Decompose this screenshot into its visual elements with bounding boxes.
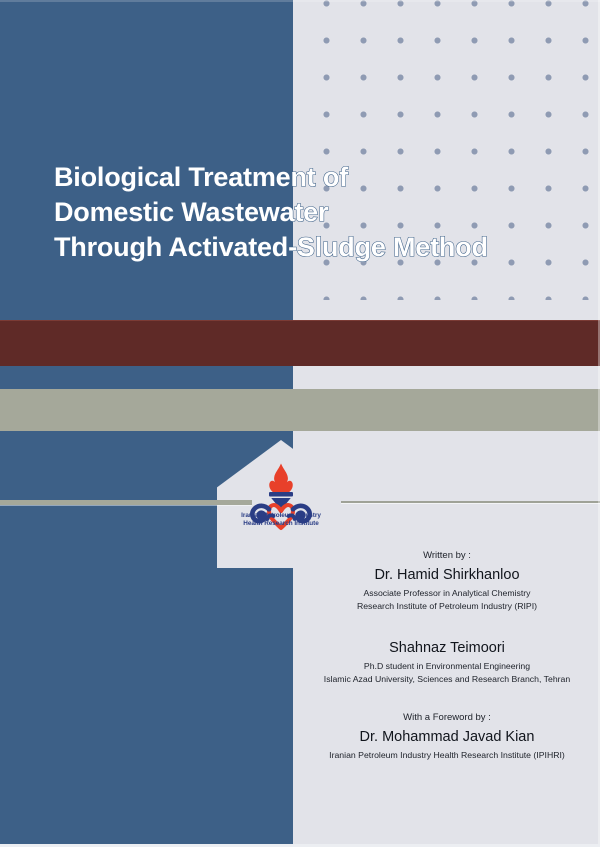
horizontal-rule-right [341,501,600,503]
horizontal-rule-left [0,500,252,505]
foreword-author-affiliation: Iranian Petroleum Industry Health Resear… [300,749,594,762]
author-2-name: Shahnaz Teimoori [300,637,594,660]
author-2-affiliation-line-1: Ph.D student in Environmental Engineerin… [300,660,594,673]
author-1-affiliation-line-1: Associate Professor in Analytical Chemis… [300,587,594,600]
author-1-affiliation-line-2: Research Institute of Petroleum Industry… [300,600,594,613]
logo-caption-line-1: Iranian Petroleum Industry [220,512,342,520]
written-by-label: Written by : [300,548,594,564]
author-2-affiliation-line-2: Islamic Azad University, Sciences and Re… [300,673,594,686]
author-1-name: Dr. Hamid Shirkhanloo [300,564,594,587]
title-line-3: Through Activated-Sludge Method [54,230,554,265]
written-by-group: Written by : Dr. Hamid Shirkhanloo Assoc… [300,548,594,613]
foreword-label: With a Foreword by : [300,710,594,726]
title-line-2: Domestic Wastewater [54,195,554,230]
author-2-group: Shahnaz Teimoori Ph.D student in Environ… [300,637,594,686]
sage-band [0,389,600,431]
logo-caption-line-2: Health Research Institute [220,520,342,528]
credits-spacer-2 [300,690,594,710]
book-title: Biological Treatment of Domestic Wastewa… [54,160,554,265]
credits-block: Written by : Dr. Hamid Shirkhanloo Assoc… [300,548,594,766]
title-line-1: Biological Treatment of [54,160,554,195]
dark-red-band [0,321,600,366]
logo-caption: Iranian Petroleum Industry Health Resear… [220,512,342,529]
foreword-author-name: Dr. Mohammad Javad Kian [300,726,594,749]
foreword-group: With a Foreword by : Dr. Mohammad Javad … [300,710,594,762]
book-cover: Biological Treatment of Domestic Wastewa… [0,0,600,847]
page-edge-top [0,0,600,2]
credits-spacer-1 [300,617,594,637]
